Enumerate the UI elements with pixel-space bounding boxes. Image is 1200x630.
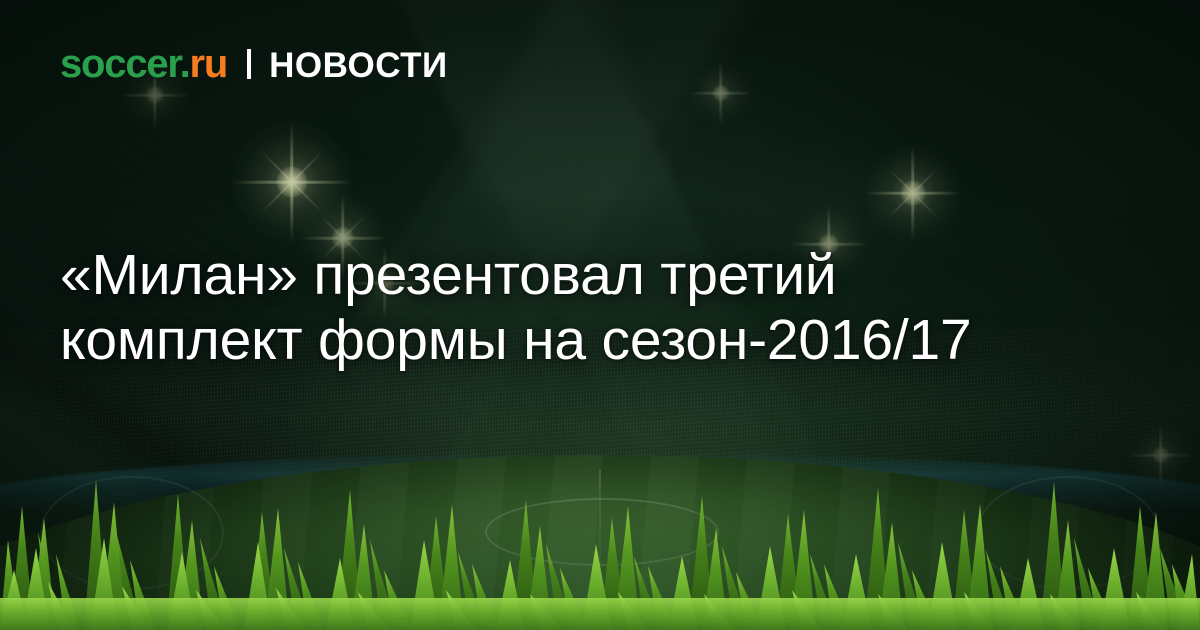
logo-text-soccer: soccer [60, 42, 180, 86]
logo-text-dot: . [180, 42, 190, 86]
section-label-news: НОВОСТИ [269, 48, 448, 83]
page-title: «Милан» презентовал третий комплект форм… [60, 243, 1100, 373]
headline-line-1: «Милан» презентовал третий [60, 243, 1100, 308]
brand-bar: soccer.ru НОВОСТИ [60, 44, 448, 84]
logo-text-ru: ru [190, 42, 228, 86]
soccer-ru-logo[interactable]: soccer.ru [60, 44, 227, 84]
headline-line-2: комплект формы на сезон-2016/17 [60, 308, 1100, 373]
social-share-card: soccer.ru НОВОСТИ «Милан» презентовал тр… [0, 0, 1200, 630]
brand-separator-icon [247, 49, 251, 79]
